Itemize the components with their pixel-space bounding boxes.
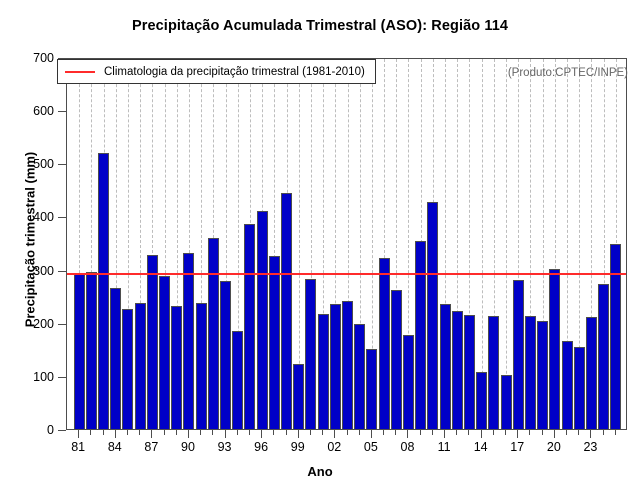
x-axis-tick bbox=[578, 430, 579, 435]
bar bbox=[171, 306, 182, 429]
bar bbox=[549, 269, 560, 429]
x-axis-tick bbox=[286, 430, 287, 435]
bar bbox=[586, 317, 597, 429]
x-axis-tick bbox=[505, 430, 506, 435]
x-axis-tick-label: 20 bbox=[534, 440, 574, 454]
x-axis-tick bbox=[298, 430, 299, 438]
bar bbox=[305, 279, 316, 429]
x-axis-tick-label: 84 bbox=[95, 440, 135, 454]
bar bbox=[281, 193, 292, 429]
bar bbox=[342, 301, 353, 429]
x-axis-tick bbox=[90, 430, 91, 435]
x-axis-tick bbox=[212, 430, 213, 435]
y-axis-tick-label: 300 bbox=[4, 264, 54, 278]
bar bbox=[427, 202, 438, 429]
x-axis-tick bbox=[456, 430, 457, 435]
plot-area bbox=[66, 58, 627, 430]
y-axis-tick-label: 500 bbox=[4, 157, 54, 171]
bar bbox=[537, 321, 548, 429]
bar bbox=[476, 372, 487, 429]
bar bbox=[196, 303, 207, 429]
x-axis-tick bbox=[188, 430, 189, 438]
bar bbox=[220, 281, 231, 429]
x-axis-tick bbox=[359, 430, 360, 435]
x-axis-tick bbox=[273, 430, 274, 435]
gridline bbox=[506, 59, 507, 429]
x-axis-tick bbox=[493, 430, 494, 435]
x-axis-tick-label: 99 bbox=[278, 440, 318, 454]
bar bbox=[74, 274, 85, 429]
x-axis-tick bbox=[151, 430, 152, 438]
x-axis-tick bbox=[444, 430, 445, 438]
x-axis-tick bbox=[127, 430, 128, 435]
bar bbox=[379, 258, 390, 429]
x-axis-tick bbox=[164, 430, 165, 435]
x-axis-tick bbox=[590, 430, 591, 438]
y-axis-label: Precipitação trimestral (mm) bbox=[23, 80, 38, 400]
bar bbox=[122, 309, 133, 429]
y-axis-tick bbox=[58, 164, 66, 165]
x-axis-tick bbox=[225, 430, 226, 438]
bar bbox=[330, 304, 341, 429]
x-axis-tick bbox=[200, 430, 201, 435]
x-axis-tick bbox=[481, 430, 482, 438]
bar bbox=[501, 375, 512, 429]
x-axis-tick-label: 05 bbox=[351, 440, 391, 454]
bar bbox=[464, 315, 475, 429]
y-axis-tick bbox=[58, 377, 66, 378]
bar bbox=[525, 316, 536, 429]
y-axis-tick bbox=[58, 217, 66, 218]
bar bbox=[562, 341, 573, 429]
legend-line-swatch bbox=[65, 71, 95, 73]
bar bbox=[244, 224, 255, 429]
x-axis-tick bbox=[432, 430, 433, 435]
y-axis-tick bbox=[58, 111, 66, 112]
y-axis-tick bbox=[58, 324, 66, 325]
bar bbox=[513, 280, 524, 429]
bar bbox=[415, 241, 426, 429]
chart-figure: Precipitação Acumulada Trimestral (ASO):… bbox=[0, 0, 640, 500]
x-axis-tick bbox=[261, 430, 262, 438]
bar bbox=[318, 314, 329, 429]
bar bbox=[232, 331, 243, 429]
x-axis-tick-label: 81 bbox=[58, 440, 98, 454]
x-axis-tick-label: 23 bbox=[570, 440, 610, 454]
x-axis-tick bbox=[347, 430, 348, 435]
x-axis-tick bbox=[103, 430, 104, 435]
bar bbox=[135, 303, 146, 429]
y-axis-tick bbox=[58, 271, 66, 272]
x-axis-tick-label: 11 bbox=[424, 440, 464, 454]
y-axis-tick-label: 100 bbox=[4, 370, 54, 384]
x-axis-tick bbox=[468, 430, 469, 435]
bar bbox=[391, 290, 402, 429]
y-axis-tick-label: 600 bbox=[4, 104, 54, 118]
producer-annotation: (Produto:CPTEC/INPE) bbox=[508, 67, 628, 79]
bar bbox=[598, 284, 609, 429]
x-axis-tick bbox=[310, 430, 311, 435]
x-axis-label: Ano bbox=[0, 464, 640, 479]
x-axis-tick-label: 17 bbox=[497, 440, 537, 454]
bar bbox=[574, 347, 585, 429]
legend: Climatologia da precipitação trimestral … bbox=[57, 59, 376, 84]
x-axis-tick bbox=[237, 430, 238, 435]
x-axis-tick bbox=[334, 430, 335, 438]
bar bbox=[488, 316, 499, 429]
bar bbox=[86, 272, 97, 429]
bar bbox=[354, 324, 365, 429]
bar bbox=[208, 238, 219, 429]
bar bbox=[366, 349, 377, 429]
x-axis-tick bbox=[420, 430, 421, 435]
bar bbox=[269, 256, 280, 429]
bar bbox=[257, 211, 268, 429]
x-axis-tick bbox=[371, 430, 372, 438]
bar bbox=[147, 255, 158, 429]
x-axis-tick bbox=[395, 430, 396, 435]
x-axis-tick-label: 90 bbox=[168, 440, 208, 454]
x-axis-tick-label: 02 bbox=[314, 440, 354, 454]
legend-item-label: Climatologia da precipitação trimestral … bbox=[104, 66, 365, 78]
x-axis-tick bbox=[78, 430, 79, 438]
bar bbox=[440, 304, 451, 429]
y-axis-tick-label: 700 bbox=[4, 51, 54, 65]
x-axis-tick bbox=[383, 430, 384, 435]
x-axis-tick bbox=[249, 430, 250, 435]
x-axis-tick bbox=[554, 430, 555, 438]
y-axis-tick-label: 400 bbox=[4, 210, 54, 224]
x-axis-tick bbox=[139, 430, 140, 435]
x-axis-tick bbox=[407, 430, 408, 438]
climatology-reference-line bbox=[67, 273, 626, 275]
x-axis-tick bbox=[566, 430, 567, 435]
x-axis-tick bbox=[322, 430, 323, 435]
bar bbox=[293, 364, 304, 429]
bar bbox=[98, 153, 109, 429]
bar bbox=[110, 288, 121, 429]
bar bbox=[159, 276, 170, 429]
x-axis-tick-label: 93 bbox=[205, 440, 245, 454]
x-axis-tick bbox=[542, 430, 543, 435]
y-axis-tick-label: 0 bbox=[4, 423, 54, 437]
x-axis-tick bbox=[615, 430, 616, 435]
x-axis-tick bbox=[603, 430, 604, 435]
bar bbox=[403, 335, 414, 429]
x-axis-tick bbox=[517, 430, 518, 438]
y-axis-tick bbox=[58, 430, 66, 431]
bar bbox=[183, 253, 194, 429]
x-axis-tick bbox=[529, 430, 530, 435]
x-axis-tick-label: 96 bbox=[241, 440, 281, 454]
x-axis-tick-label: 08 bbox=[387, 440, 427, 454]
bar bbox=[610, 244, 621, 429]
x-axis-tick bbox=[176, 430, 177, 435]
x-axis-tick-label: 14 bbox=[461, 440, 501, 454]
page-title: Precipitação Acumulada Trimestral (ASO):… bbox=[0, 18, 640, 34]
y-axis-tick-label: 200 bbox=[4, 317, 54, 331]
x-axis-tick bbox=[115, 430, 116, 438]
x-axis-tick-label: 87 bbox=[131, 440, 171, 454]
bar bbox=[452, 311, 463, 429]
